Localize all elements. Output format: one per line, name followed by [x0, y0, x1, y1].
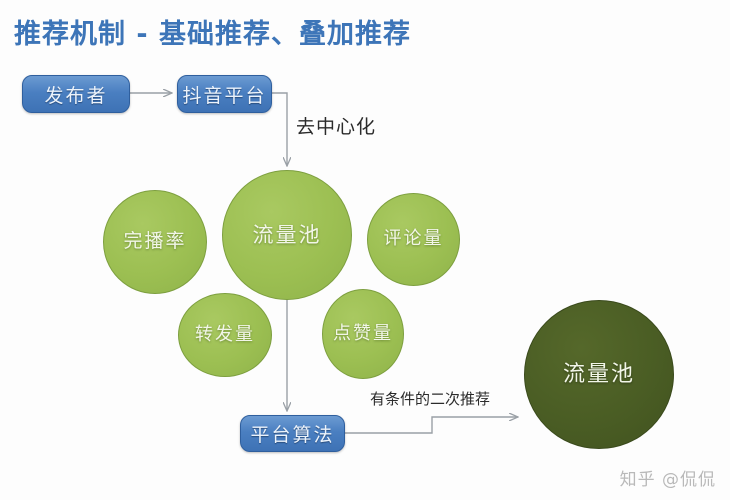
- arrow-platform-to-pool: [272, 93, 287, 166]
- node-traffic-pool-final[interactable]: 流量池: [524, 300, 674, 449]
- watermark: 知乎 @侃侃: [620, 465, 716, 490]
- page-title: 推荐机制 - 基础推荐、叠加推荐: [14, 12, 411, 51]
- arrow-algorithm-to-final-pool: [345, 417, 518, 433]
- node-completion-rate-label: 完播率: [123, 231, 186, 253]
- node-like-count[interactable]: 点赞量: [322, 289, 404, 379]
- label-decentralization: 去中心化: [296, 112, 376, 139]
- node-traffic-pool-main-label: 流量池: [253, 223, 322, 247]
- node-like-count-label: 点赞量: [333, 324, 393, 345]
- node-douyin-platform-label: 抖音平台: [182, 81, 266, 108]
- node-share-count-label: 转发量: [195, 325, 255, 346]
- diagram-canvas: 推荐机制 - 基础推荐、叠加推荐 发布者 抖音平台 平台算法 流量池 完播率 评…: [0, 0, 730, 500]
- node-traffic-pool-final-label: 流量池: [563, 362, 635, 387]
- node-traffic-pool-main[interactable]: 流量池: [222, 170, 352, 300]
- label-secondary-recommendation: 有条件的二次推荐: [370, 388, 490, 409]
- node-douyin-platform[interactable]: 抖音平台: [177, 75, 272, 113]
- node-publisher[interactable]: 发布者: [22, 75, 130, 113]
- node-platform-algorithm[interactable]: 平台算法: [240, 415, 345, 452]
- node-completion-rate[interactable]: 完播率: [103, 190, 207, 294]
- node-comment-count-label: 评论量: [384, 229, 444, 250]
- node-platform-algorithm-label: 平台算法: [250, 420, 334, 447]
- node-share-count[interactable]: 转发量: [178, 293, 272, 377]
- node-publisher-label: 发布者: [44, 81, 107, 108]
- node-comment-count[interactable]: 评论量: [367, 193, 460, 286]
